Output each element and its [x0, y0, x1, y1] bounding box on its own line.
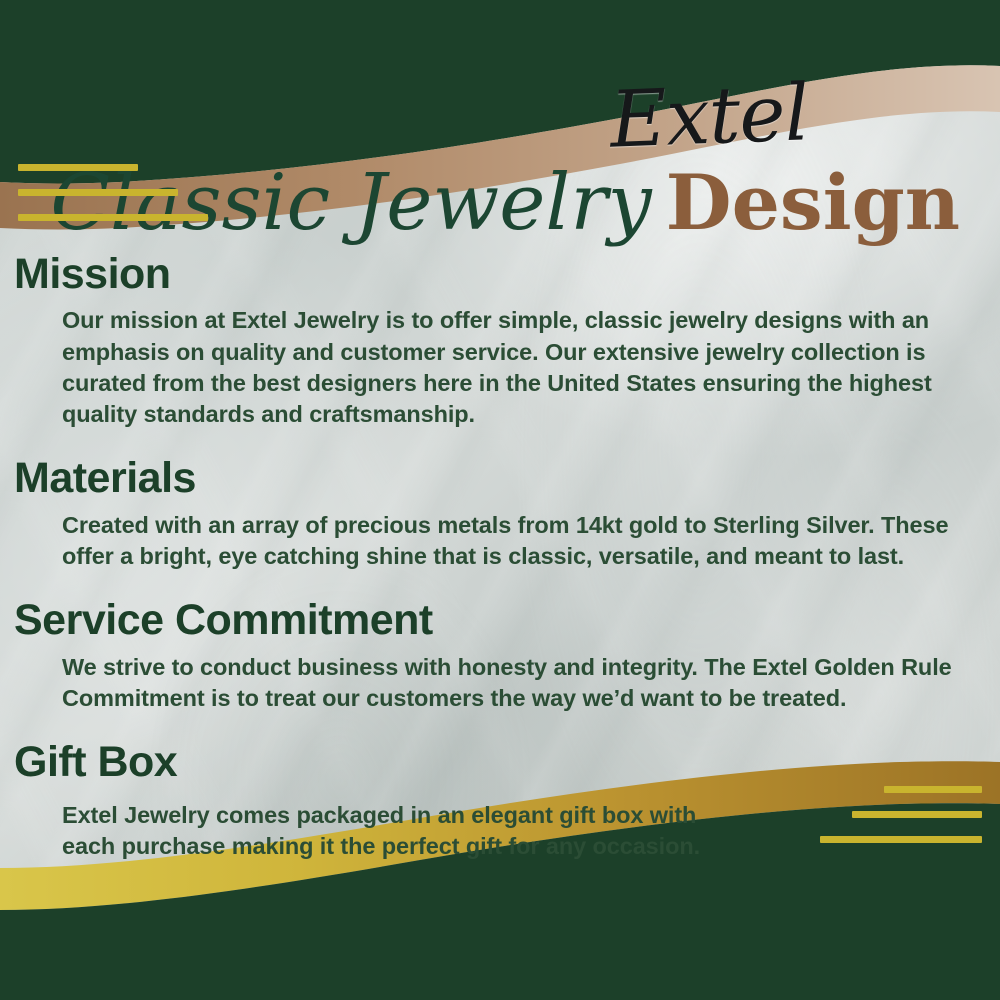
title-serif-part: Design — [666, 158, 960, 247]
decor-line — [18, 189, 178, 196]
section-body-materials: Created with an array of precious metals… — [0, 510, 1000, 573]
section-materials: Materials Created with an array of preci… — [0, 454, 1000, 572]
section-body-service-commitment: We strive to conduct business with hones… — [0, 652, 1000, 715]
section-body-gift-box: Extel Jewelry comes packaged in an elega… — [0, 800, 1000, 863]
section-heading-materials: Materials — [0, 454, 1000, 503]
section-heading-service-commitment: Service Commitment — [0, 596, 1000, 645]
brand-wordmark: Extel — [609, 74, 810, 160]
section-heading-gift-box: Gift Box — [0, 738, 1000, 787]
poster-canvas: Extel Classic JewelryDesign Mission Our … — [0, 0, 1000, 1000]
section-mission: Mission Our mission at Extel Jewelry is … — [0, 250, 1000, 430]
section-service-commitment: Service Commitment We strive to conduct … — [0, 596, 1000, 714]
decor-line — [18, 214, 208, 221]
decor-line — [18, 164, 138, 171]
content-sections: Mission Our mission at Extel Jewelry is … — [0, 250, 1000, 868]
section-heading-mission: Mission — [0, 250, 1000, 299]
section-gift-box: Gift Box Extel Jewelry comes packaged in… — [0, 738, 1000, 862]
section-body-mission: Our mission at Extel Jewelry is to offer… — [0, 305, 1000, 430]
decor-lines-top-left — [18, 164, 208, 239]
